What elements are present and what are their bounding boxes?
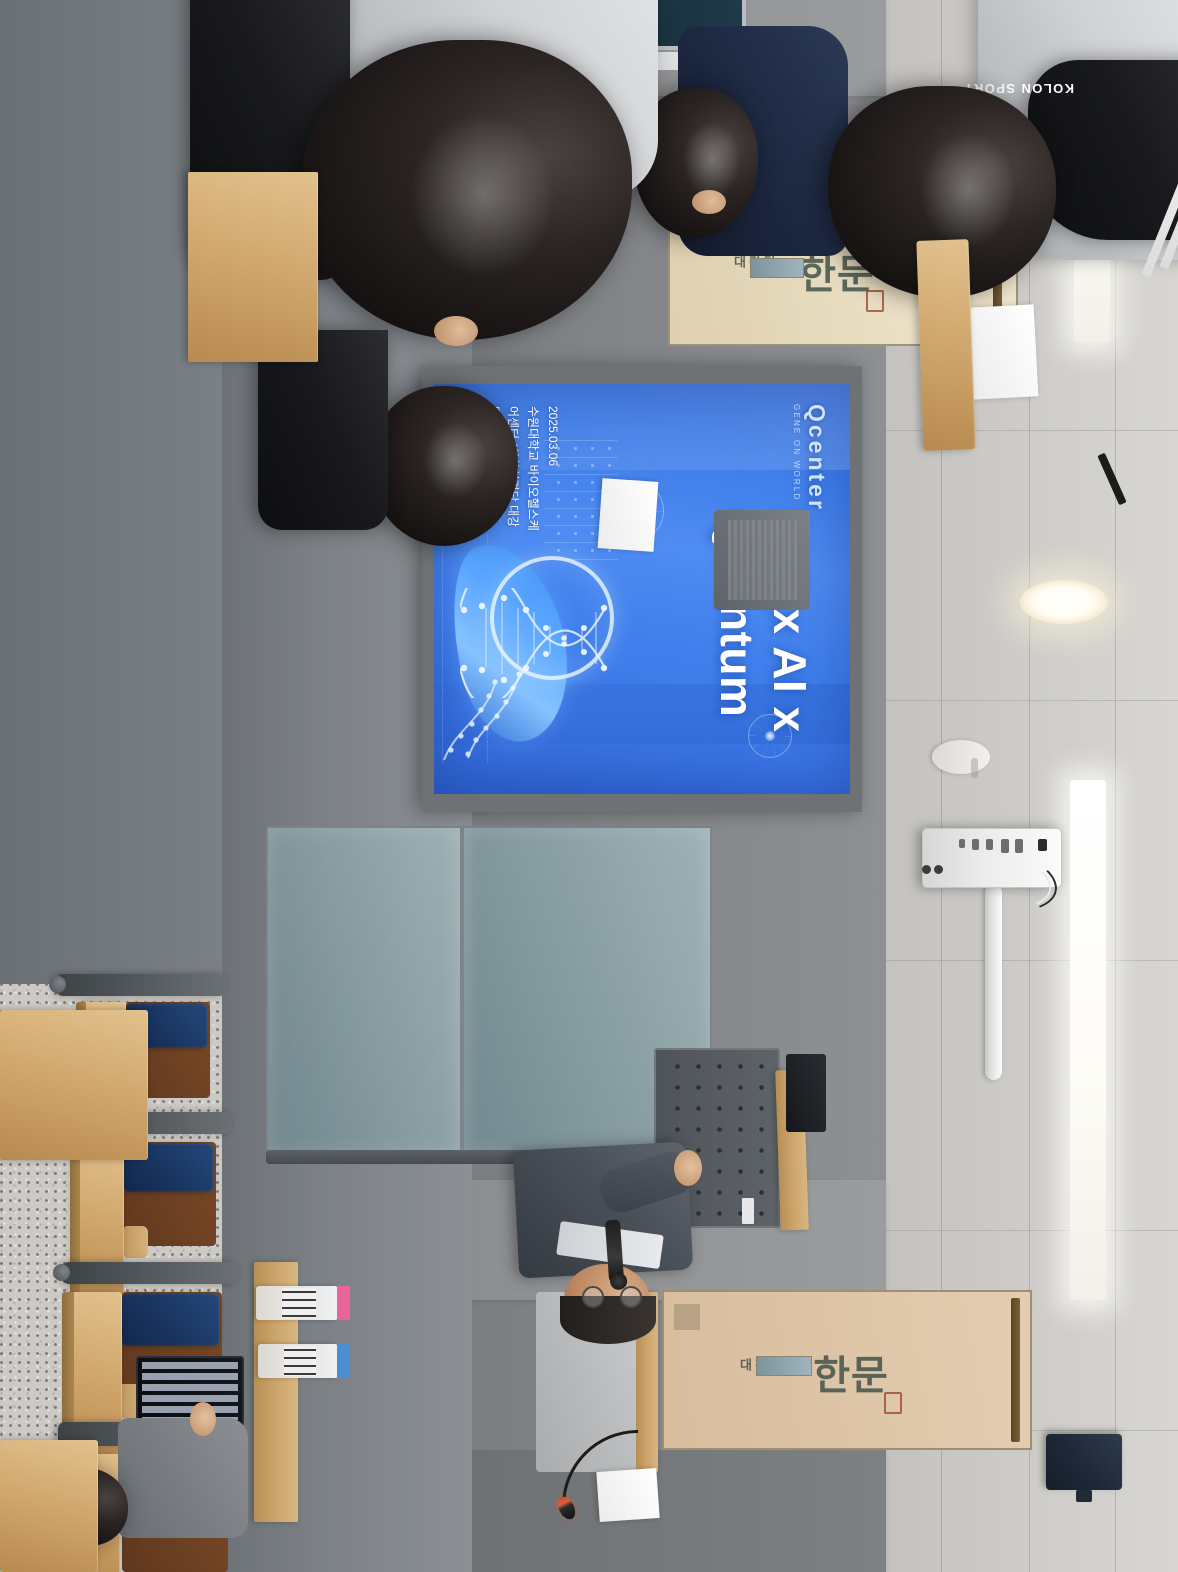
panel-light-icon [1070,780,1106,1300]
glasses-icon [620,1286,642,1308]
ear [692,190,726,214]
smoke-detector-icon [932,740,990,774]
foreground-desk [0,1010,148,1160]
foreground-head [302,40,632,340]
handout-sheet[interactable] [598,478,659,552]
bottle-cap [337,1344,350,1378]
lecture-hall-door[interactable]: 한문 대강당 [662,1290,1032,1450]
seat-cushion[interactable] [122,1294,220,1346]
door-window [750,258,804,278]
presenter [488,1136,708,1346]
ear [434,316,478,346]
rack-label [742,1198,754,1224]
photo-scene: 한문 대강당 한문 대강당 Qcenter GENE ON WORLD [0,0,1178,1572]
aisle-handrail[interactable] [56,974,226,996]
slide-logo-subtitle: GENE ON WORLD [792,404,801,512]
glass-partition [266,826,462,1156]
seal-stamp-icon [866,290,884,312]
av-monitor [786,1054,826,1132]
glasses-icon [582,1286,604,1308]
molecule-node-icon [748,714,792,758]
handrail-cap [49,976,66,993]
wall-speaker [1046,1434,1122,1490]
door-window [756,1356,812,1376]
water-bottle[interactable] [256,1286,338,1320]
handout-sheet [596,1468,659,1522]
downlight-icon [1020,580,1108,624]
operator-body [118,1418,248,1538]
bottle-cap [337,1286,350,1320]
bottle-label [282,1288,316,1318]
handout-sheet[interactable] [968,304,1039,399]
slide-logo-mark: Qcenter [803,404,830,512]
laptop-keyboard[interactable] [142,1362,238,1420]
foreground-desk [188,172,318,362]
rotated-scene-container: 한문 대강당 한문 대강당 Qcenter GENE ON WORLD [0,0,1178,1572]
seal-stamp-icon [884,1392,902,1414]
aisle-floor [0,0,222,984]
handrail-cap [53,1264,70,1281]
water-bottle[interactable] [258,1344,338,1378]
slide-logo: Qcenter GENE ON WORLD [792,404,830,512]
operator-hand [190,1402,216,1436]
foreground-desk [0,1440,98,1572]
audience-head [370,386,518,546]
seat-armrest [124,1226,148,1258]
chair-back-vent [728,520,798,600]
projector-mount-arm [985,884,1002,1080]
bottle-label [284,1346,316,1376]
dna-helix-graphic [434,666,530,762]
presenter-hand [674,1150,702,1186]
presenter-hair [560,1296,656,1344]
aisle-handrail[interactable] [62,1262,238,1284]
foreground-desk [916,239,975,451]
